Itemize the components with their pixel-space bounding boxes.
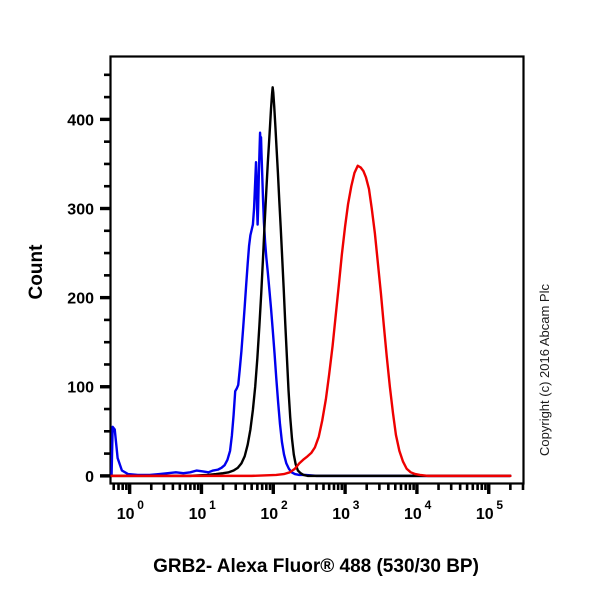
x-tick-exponent: 0 [137, 498, 144, 512]
x-tick-exponent: 5 [496, 498, 503, 512]
x-tick-mantissa: 10 [260, 506, 278, 523]
x-tick-exponent: 4 [425, 498, 432, 512]
x-tick-mantissa: 10 [332, 506, 350, 523]
x-tick-mantissa: 10 [189, 506, 207, 523]
x-tick-mantissa: 10 [476, 506, 494, 523]
y-tick-label: 200 [67, 291, 94, 308]
y-axis-title: Count [26, 244, 47, 300]
x-axis-title: GRB2- Alexa Fluor® 488 (530/30 BP) [153, 556, 479, 577]
x-tick-mantissa: 10 [117, 506, 135, 523]
x-tick-exponent: 2 [281, 498, 288, 512]
flow-cytometry-figure: 0100200300400 100101102103104105 Count G… [0, 0, 600, 600]
y-tick-label: 100 [67, 380, 94, 397]
y-tick-label: 0 [85, 469, 94, 486]
x-tick-exponent: 1 [209, 498, 216, 512]
y-tick-label: 400 [67, 112, 94, 129]
x-tick-exponent: 3 [353, 498, 360, 512]
y-tick-label: 300 [67, 202, 94, 219]
copyright-notice: Copyright (c) 2016 Abcam Plc [537, 284, 552, 456]
histogram-plot: 0100200300400 100101102103104105 Count G… [0, 0, 600, 600]
x-tick-mantissa: 10 [404, 506, 422, 523]
